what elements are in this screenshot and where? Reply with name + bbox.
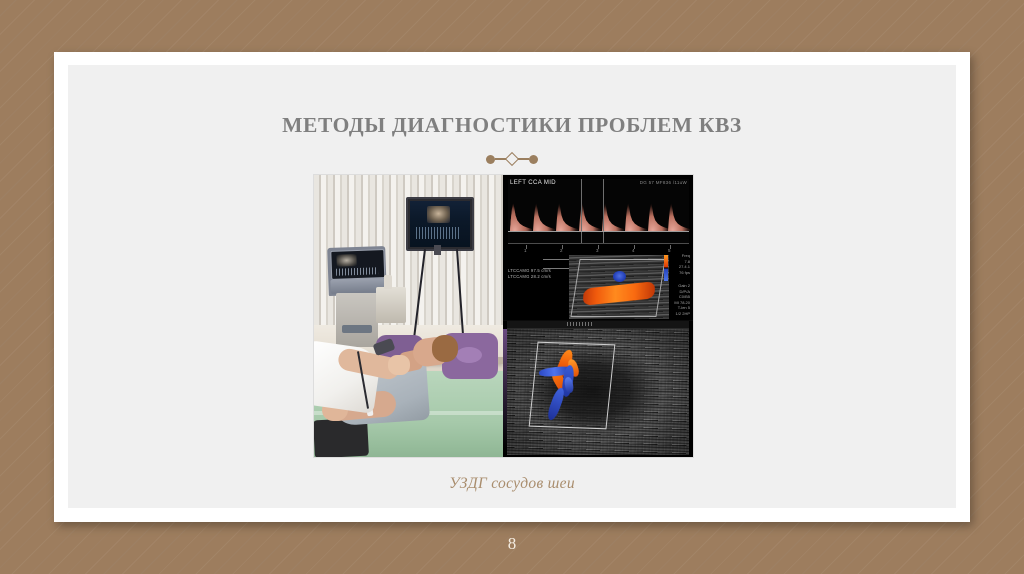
page-title: МЕТОДЫ ДИАГНОСТИКИ ПРОБЛЕМ КВЗ [68, 113, 956, 138]
ruler-label: 4 [632, 248, 635, 253]
color-doppler-header-strip [507, 321, 689, 329]
sonographer-hand [388, 355, 410, 375]
ruler-label: 3 [596, 248, 599, 253]
title-ornament [68, 151, 956, 167]
duplex-measurement-2: LTCCAMG 28.2 cm/s [508, 274, 551, 280]
ultrasound-machine-screen [330, 249, 385, 280]
slide-canvas: МЕТОДЫ ДИАГНОСТИКИ ПРОБЛЕМ КВЗ [68, 65, 956, 508]
gel-bottle [384, 275, 392, 289]
ornament-dot-left [486, 155, 495, 164]
ruler-label: 1 [524, 248, 527, 253]
duplex-parameters: Freq 7.8 27.4.1 76 fps Gain 2 D/P/A C0/B… [668, 253, 690, 316]
page-number: 8 [0, 534, 1024, 554]
spectral-cursor-1 [581, 179, 582, 243]
waveform-beat [533, 203, 555, 231]
wall-monitor [406, 197, 474, 251]
side-table [376, 287, 406, 323]
waveform-beat [648, 203, 670, 231]
spectral-cursor-2 [603, 179, 604, 243]
spectral-baseline [508, 231, 689, 232]
exam-room-photo [314, 175, 503, 457]
ornament-diamond-icon [505, 152, 519, 166]
figure-caption: УЗДГ сосудов шеи [68, 475, 956, 493]
waveform-beat [510, 203, 532, 231]
color-doppler-image [503, 320, 693, 457]
slide-frame: МЕТОДЫ ДИАГНОСТИКИ ПРОБЛЕМ КВЗ [54, 52, 970, 522]
waveform-beat [625, 203, 647, 231]
color-doppler-left-bar [503, 329, 507, 449]
ornament-dot-right [529, 155, 538, 164]
depth-ruler: 1 2 3 4 5 [508, 245, 689, 255]
ultrasound-cart [336, 293, 378, 347]
figure-image-composite: LEFT CCA MID DG 57 MF836 /11uW [314, 175, 693, 457]
waveform-beat [579, 203, 601, 231]
duplex-doppler-image: LEFT CCA MID DG 57 MF836 /11uW [503, 175, 693, 320]
waveform-beat [668, 203, 690, 231]
spectral-trace [510, 201, 688, 231]
waveform-beat [602, 203, 624, 231]
param-line: 1/2 2HP [668, 311, 690, 317]
ultrasound-images-column: LEFT CCA MID DG 57 MF836 /11uW [503, 175, 693, 457]
bmode-color-flow-panel [569, 255, 669, 319]
wall-monitor-screen [410, 201, 470, 247]
venous-flow-blue [613, 271, 626, 282]
slide-background: МЕТОДЫ ДИАГНОСТИКИ ПРОБЛЕМ КВЗ [0, 0, 1024, 574]
patient-hair [432, 335, 458, 362]
monitor-arm [434, 245, 441, 255]
waveform-beat [556, 203, 578, 231]
ruler-label: 2 [560, 248, 563, 253]
duplex-header-right: DG 57 MF836 /11uW [640, 180, 687, 185]
duplex-vessel-label: LEFT CCA MID [510, 180, 556, 186]
ornament-line-right [518, 158, 529, 160]
